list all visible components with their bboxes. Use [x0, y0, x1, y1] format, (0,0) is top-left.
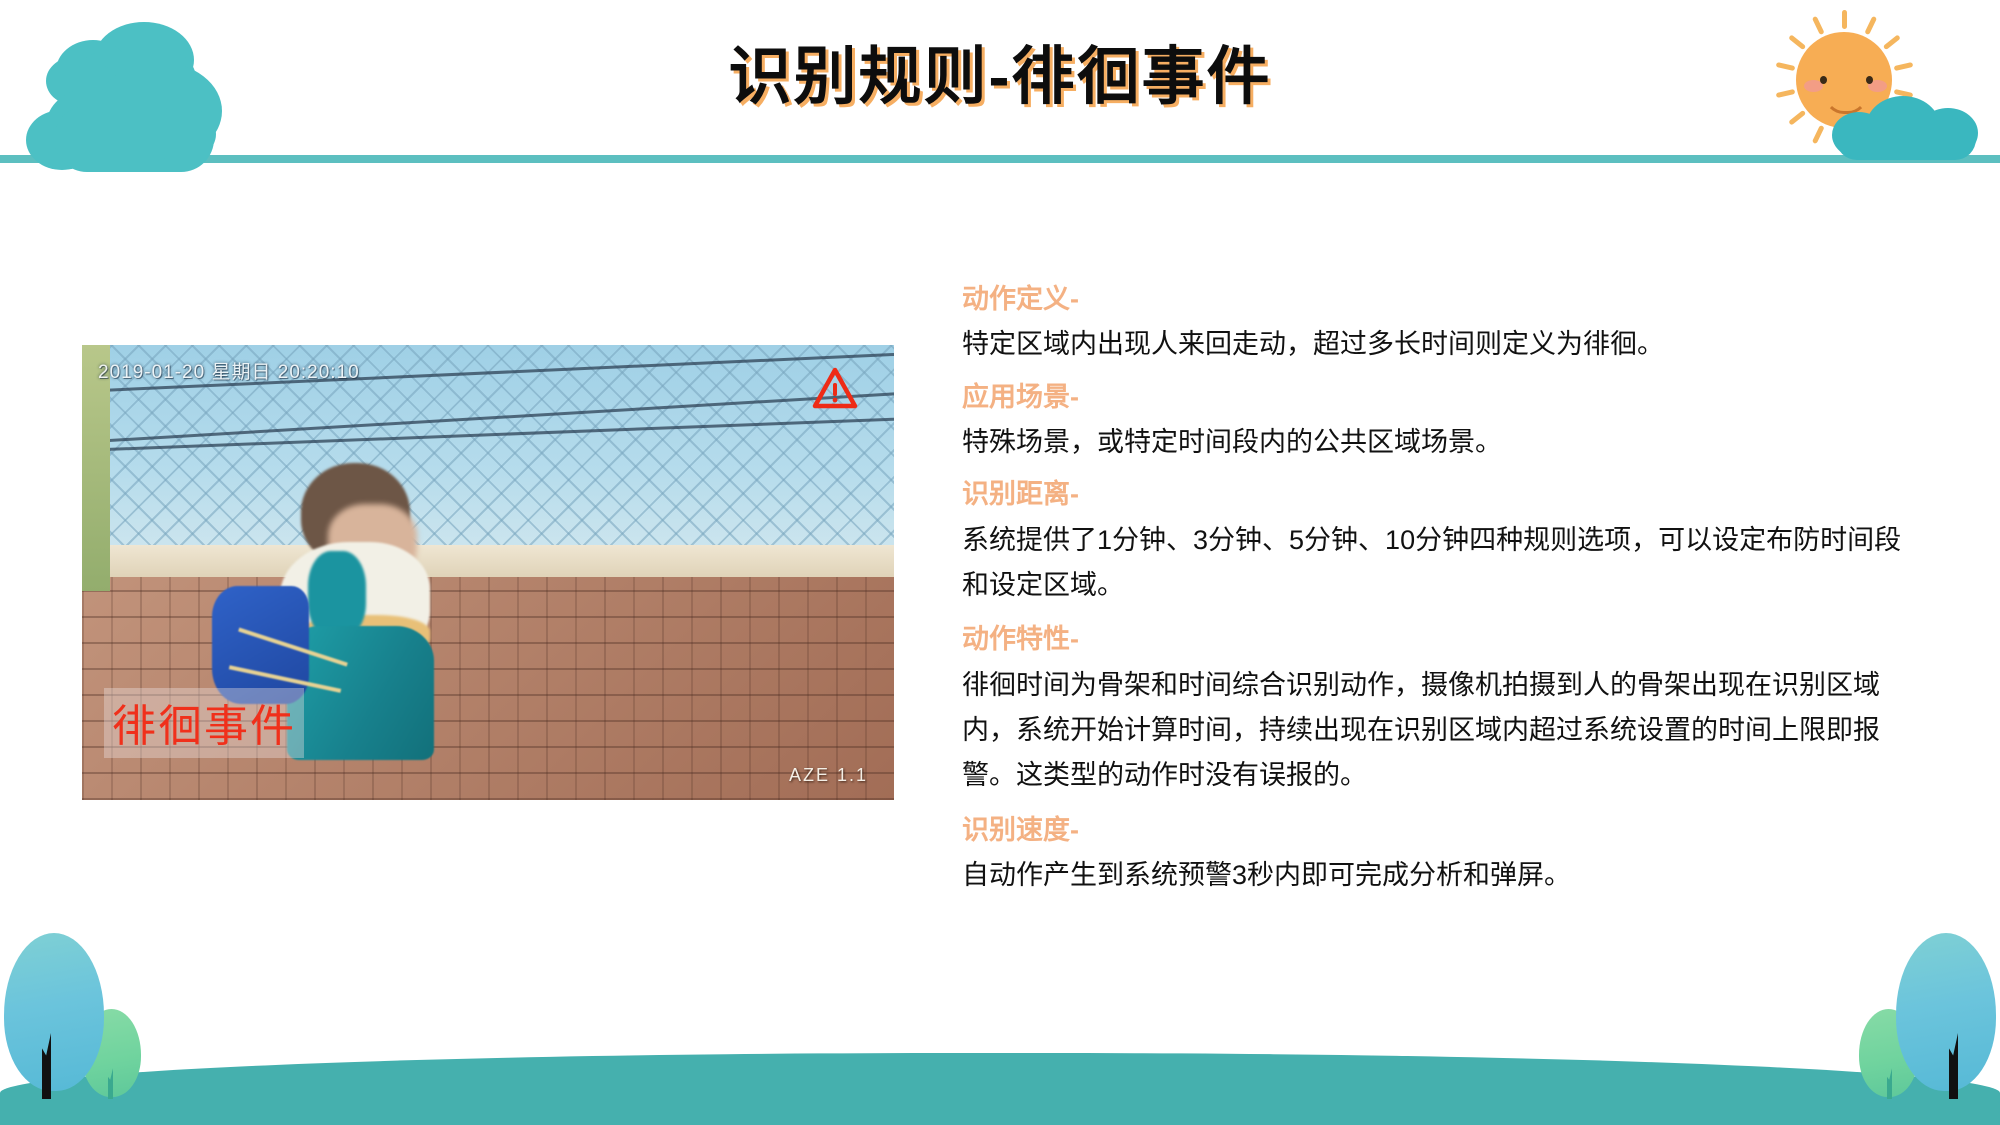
ground-strip [0, 1053, 2000, 1125]
section-body-action-characteristics: 徘徊时间为骨架和时间综合识别动作，摄像机拍摄到人的骨架出现在识别区域内，系统开始… [962, 663, 1902, 799]
section-heading-action-characteristics: 动作特性- [962, 620, 1902, 658]
section-body-recognition-distance: 系统提供了1分钟、3分钟、5分钟、10分钟四种规则选项，可以设定布防时间段和设定… [962, 518, 1902, 609]
sun-ray [1776, 62, 1796, 71]
sun-ray [1788, 110, 1806, 126]
photo-timestamp: 2019-01-20 星期日 20:20:10 [98, 357, 360, 384]
surveillance-photo: 2019-01-20 星期日 20:20:10 AZE 1.1 徘徊事件 [82, 345, 894, 800]
section-heading-recognition-speed: 识别速度- [962, 811, 1902, 849]
sun-ray [1776, 89, 1796, 98]
sun-ray [1788, 34, 1806, 50]
section-heading-application-scenario: 应用场景- [962, 378, 1902, 416]
header-divider [0, 155, 2000, 163]
warning-triangle-icon [812, 367, 858, 409]
sun-ray [1883, 34, 1901, 50]
sun-ray [1812, 16, 1825, 35]
sun-icon [1718, 4, 1978, 162]
photo-camera-label: AZE 1.1 [789, 765, 868, 786]
photo-event-label: 徘徊事件 [104, 688, 304, 758]
sun-ray [1812, 125, 1825, 144]
section-heading-action-definition: 动作定义- [962, 280, 1902, 318]
sun-ray [1842, 10, 1847, 29]
rule-description-panel: 动作定义- 特定区域内出现人来回走动，超过多长时间则定义为徘徊。 应用场景- 特… [962, 280, 1902, 909]
page-title: 识别规则-徘徊事件 [0, 26, 2000, 117]
section-body-application-scenario: 特殊场景，或特定时间段内的公共区域场景。 [962, 420, 1902, 465]
sun-ray [1864, 16, 1877, 35]
cloud-icon [1830, 96, 1980, 162]
sun-eye-right [1866, 76, 1873, 84]
sun-eye-left [1820, 76, 1827, 84]
section-body-recognition-speed: 自动作产生到系统预警3秒内即可完成分析和弹屏。 [962, 853, 1902, 898]
slide-header: 识别规则-徘徊事件 [0, 0, 2000, 163]
slide-root: 识别规则-徘徊事件 [0, 0, 2000, 1125]
section-body-action-definition: 特定区域内出现人来回走动，超过多长时间则定义为徘徊。 [962, 322, 1902, 367]
sun-ray [1894, 62, 1914, 71]
section-heading-recognition-distance: 识别距离- [962, 475, 1902, 513]
